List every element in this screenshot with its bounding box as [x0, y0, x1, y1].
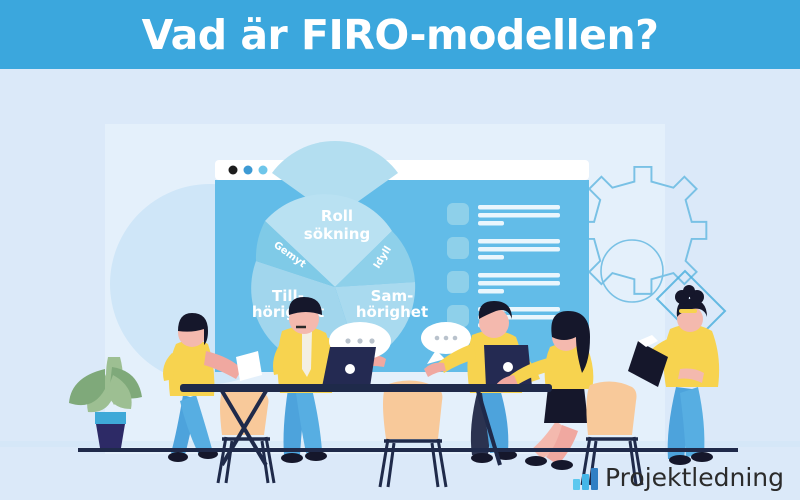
page-root: Vad är FIRO-modellen? — [0, 0, 800, 500]
pie-label-samhorighet-line2: hörighet — [356, 303, 428, 321]
presentation-screen[interactable]: Roll sökning Gemyt Idyll Till- hörighet … — [215, 141, 589, 372]
illustration-canvas: Roll sökning Gemyt Idyll Till- hörighet … — [0, 69, 800, 500]
hair-band — [679, 309, 697, 313]
window-dot-minimize[interactable] — [244, 166, 253, 175]
table-top — [180, 384, 552, 392]
window-dot-maximize[interactable] — [259, 166, 268, 175]
bar-chart-icon — [573, 468, 598, 490]
plant-pot — [96, 424, 125, 448]
pie-label-roll-sokning-line2: sökning — [304, 225, 370, 243]
list-line-long — [478, 281, 560, 286]
chair-right-seat — [586, 381, 636, 435]
list-line-short — [478, 255, 504, 260]
thumbnail-placeholder-icon — [447, 271, 469, 293]
header-banner: Vad är FIRO-modellen? — [0, 0, 800, 69]
page-title: Vad är FIRO-modellen? — [142, 11, 659, 59]
plant-pot-rim — [95, 412, 126, 424]
list-line-long — [478, 247, 560, 252]
window-chrome-bar — [215, 160, 589, 180]
hair-bun-top — [683, 285, 695, 297]
list-line-long — [478, 213, 560, 218]
thumbnail-placeholder-icon — [447, 203, 469, 225]
floor-line — [78, 448, 738, 452]
chair-center — [380, 380, 446, 487]
brand-logo[interactable]: Projektledning — [573, 465, 784, 490]
list-line-short — [478, 289, 504, 294]
list-line-long — [478, 273, 560, 278]
list-line-long — [478, 205, 560, 210]
thumbnail-placeholder-icon — [447, 237, 469, 259]
brand-name: Projektledning — [605, 465, 784, 490]
window-dot-close[interactable] — [229, 166, 238, 175]
list-line-short — [478, 221, 504, 226]
pie-label-roll-sokning-line1: Roll — [321, 207, 353, 225]
list-line-long — [478, 239, 560, 244]
person4-skirt — [544, 387, 588, 423]
